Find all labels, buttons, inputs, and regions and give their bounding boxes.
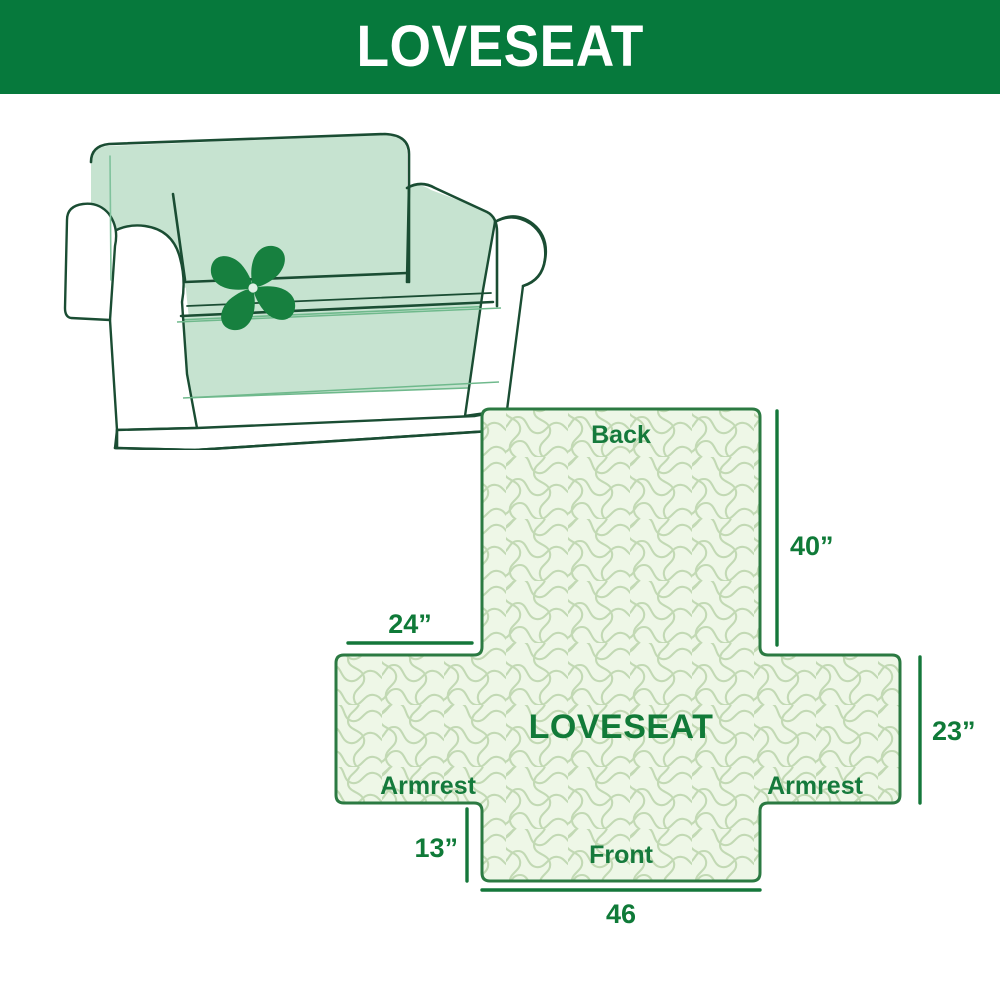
dimension-24-inch: 24” [348,609,472,643]
dimension-46: 46 [482,890,760,929]
label-back: Back [591,421,651,449]
label-front: Front [589,841,654,869]
label-armrest-right: Armrest [767,772,864,800]
cover-diagram-svg: Back LOVESEAT Armrest Armrest Front 40” … [320,395,1000,965]
label-center-loveseat: LOVESEAT [529,708,714,746]
dimension-13-label: 13” [414,833,458,863]
cover-cross-shape [336,409,900,881]
dimension-40-inch: 40” [777,411,834,645]
dimension-46-label: 46 [606,899,636,929]
dimension-13-inch: 13” [414,809,467,881]
dimension-40-label: 40” [790,531,834,561]
product-size-diagram-page: LOVESEAT [0,0,1000,1000]
label-armrest-left: Armrest [380,772,477,800]
dimension-23-inch: 23” [920,657,976,803]
page-title: LOVESEAT [356,18,643,76]
cover-size-diagram: Back LOVESEAT Armrest Armrest Front 40” … [320,395,1000,965]
dimension-23-label: 23” [932,716,976,746]
dimension-24-label: 24” [388,609,432,639]
header-banner: LOVESEAT [0,0,1000,94]
